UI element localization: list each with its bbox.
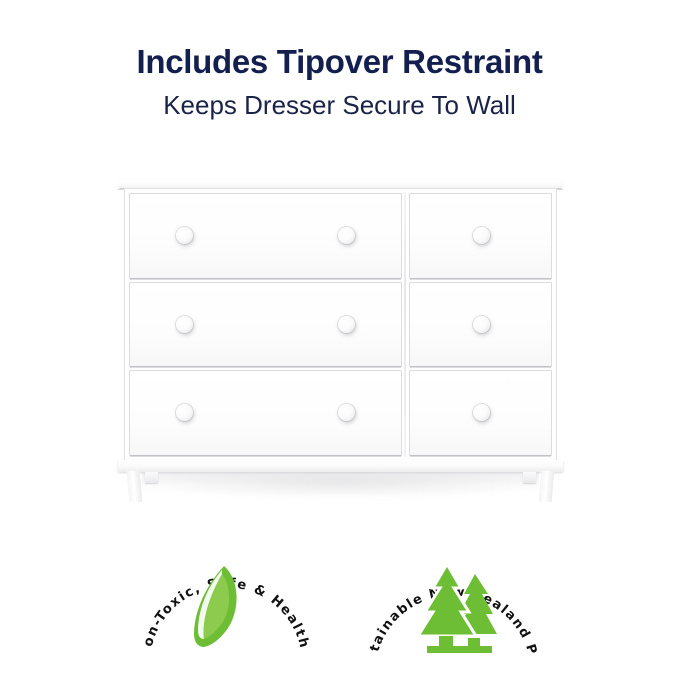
drawer-knob-icon[interactable] [473, 227, 490, 244]
leg-bracket-right [523, 472, 536, 483]
dresser-leg-left [127, 471, 143, 502]
drawer-knob-icon[interactable] [338, 227, 355, 244]
page-subtitle: Keeps Dresser Secure To Wall [0, 90, 679, 121]
drawer-knob-icon[interactable] [176, 316, 193, 333]
leaf-icon [194, 566, 237, 647]
left-drawer-column [129, 193, 402, 456]
pine-trees-icon [418, 564, 497, 653]
right-drawer-column [409, 193, 552, 456]
table-row[interactable] [409, 193, 552, 279]
under-cabinet-shadow [142, 472, 539, 494]
column-divider [404, 192, 406, 457]
table-row[interactable] [129, 193, 402, 279]
dresser-base-rail [118, 460, 563, 472]
table-row[interactable] [129, 282, 402, 368]
dresser-leg-right [539, 471, 555, 502]
leg-bracket-left [145, 472, 158, 483]
drawer-knob-icon[interactable] [176, 227, 193, 244]
page-title: Includes Tipover Restraint [0, 44, 679, 81]
sustainable-pine-badge: Sustainable New Zealand Pine [363, 518, 543, 668]
heading-block: Includes Tipover Restraint Keeps Dresser… [0, 44, 679, 121]
table-row[interactable] [409, 282, 552, 368]
table-row[interactable] [129, 370, 402, 456]
non-toxic-badge: Non-Toxic, Safe & Healthy [136, 518, 316, 668]
dresser-carcass [124, 188, 557, 461]
product-feature-image: Includes Tipover Restraint Keeps Dresser… [0, 0, 679, 679]
dresser-illustration [118, 176, 563, 500]
drawer-knob-icon[interactable] [338, 404, 355, 421]
drawer-knob-icon[interactable] [473, 316, 490, 333]
drawer-knob-icon[interactable] [338, 316, 355, 333]
certification-badges: Non-Toxic, Safe & Healthy Sustainable Ne… [0, 518, 679, 673]
table-row[interactable] [409, 370, 552, 456]
drawer-knob-icon[interactable] [176, 404, 193, 421]
drawer-knob-icon[interactable] [473, 404, 490, 421]
